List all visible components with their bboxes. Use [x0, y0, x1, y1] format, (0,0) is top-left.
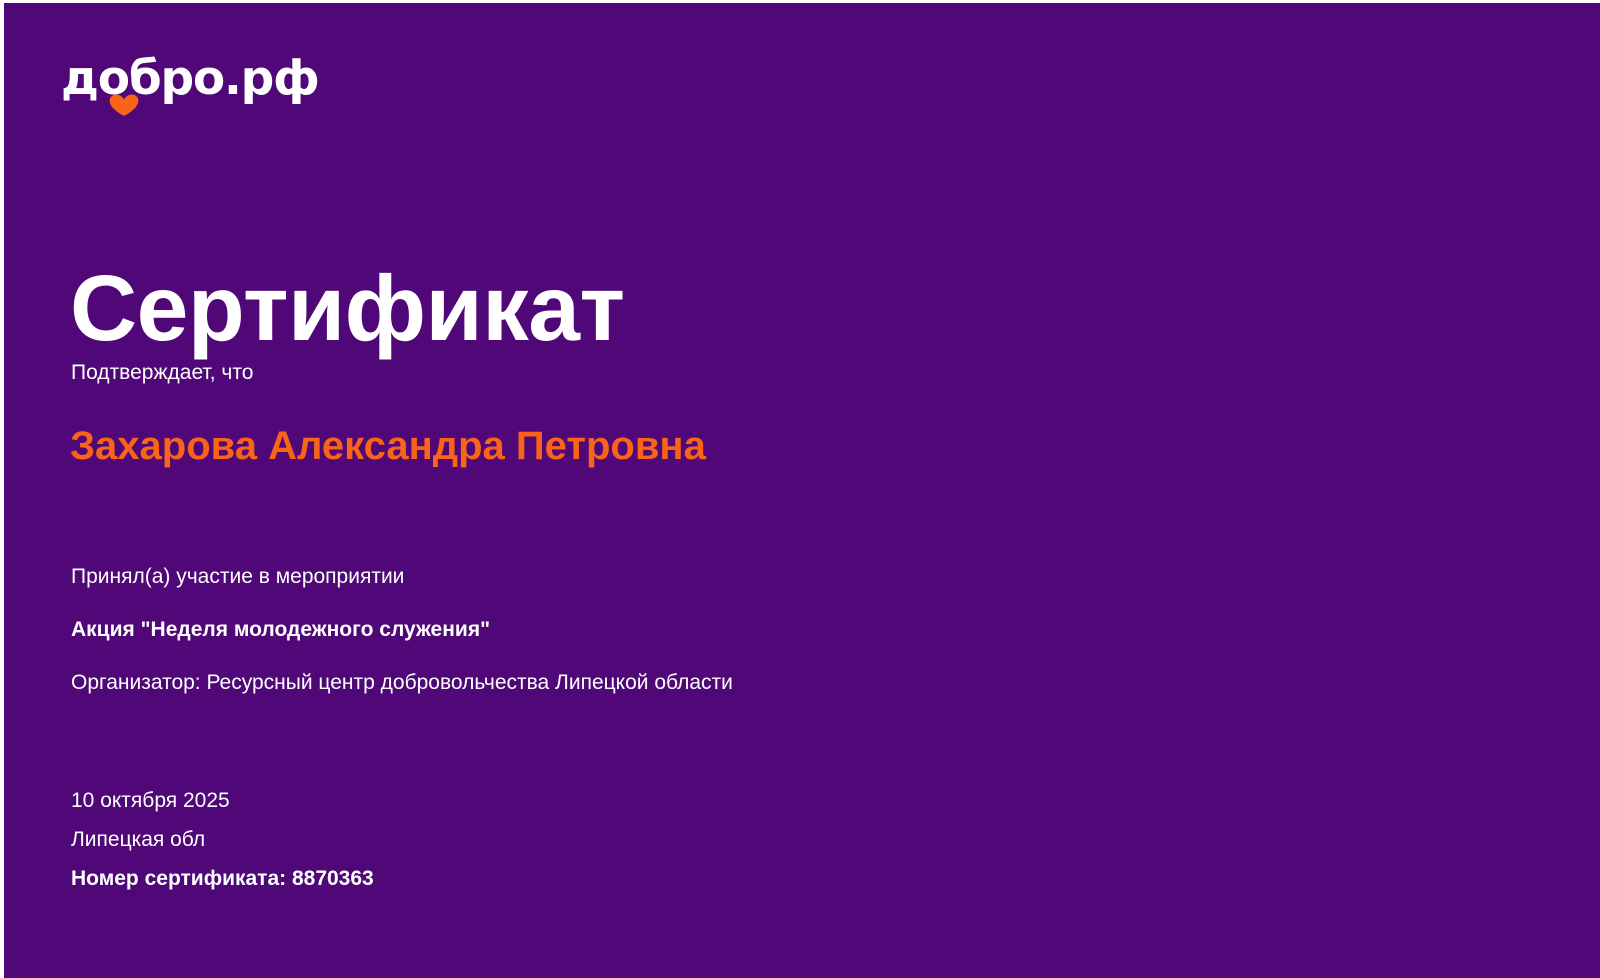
participation-label: Принял(а) участие в мероприятии [71, 563, 404, 590]
heart-icon [109, 94, 139, 116]
brand-logo: добро.рф [61, 55, 319, 117]
recipient-name: Захарова Александра Петровна [70, 420, 790, 473]
organizer-line: Организатор: Ресурсный центр добровольче… [71, 669, 733, 696]
certificate-number: Номер сертификата: 8870363 [71, 860, 374, 899]
page-title: Сертификат [70, 262, 625, 355]
issue-date: 10 октября 2025 [71, 782, 374, 821]
certificate-meta: 10 октября 2025 Липецкая обл Номер серти… [71, 782, 374, 899]
confirm-label: Подтверждает, что [71, 359, 253, 386]
certificate-page: добро.рф Сертификат Подтверждает, что За… [0, 0, 1600, 978]
region: Липецкая обл [71, 821, 374, 860]
logo-wordmark: добро.рф [61, 55, 319, 102]
event-name: Акция "Неделя молодежного служения" [71, 616, 490, 643]
